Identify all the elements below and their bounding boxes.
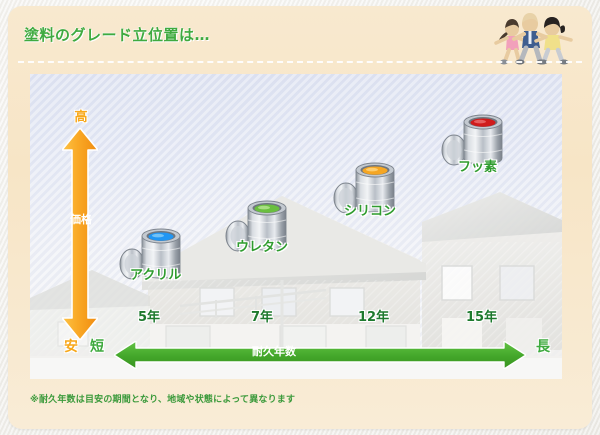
card-header: 塗料のグレード立位置は…: [8, 6, 592, 62]
footnote-text: ※耐久年数は目安の期間となり、地域や状態によって異なります: [30, 392, 295, 405]
paint-label-silicon: シリコン: [344, 200, 396, 219]
family-illustration: [486, 10, 582, 66]
year-label-silicon: 12年: [358, 306, 389, 325]
paint-label-urethane: ウレタン: [236, 236, 288, 255]
price-axis-title: 価格: [70, 214, 92, 226]
price-axis: 高 価格: [62, 106, 98, 358]
paint-label-acrylic: アクリル: [130, 264, 181, 283]
info-card: 塗料のグレード立位置は…: [8, 6, 592, 429]
paint-label-fluorine: フッ素: [458, 156, 497, 175]
price-axis-top-label: 高: [68, 106, 94, 125]
header-divider: [18, 61, 582, 63]
year-label-acrylic: 5年: [138, 306, 160, 325]
year-label-fluorine: 15年: [466, 306, 497, 325]
price-axis-arrow-icon: [62, 128, 98, 340]
year-label-urethane: 7年: [251, 306, 273, 325]
durability-axis-title: 耐久年数: [8, 343, 540, 359]
page-title: 塗料のグレード立位置は…: [24, 24, 210, 45]
